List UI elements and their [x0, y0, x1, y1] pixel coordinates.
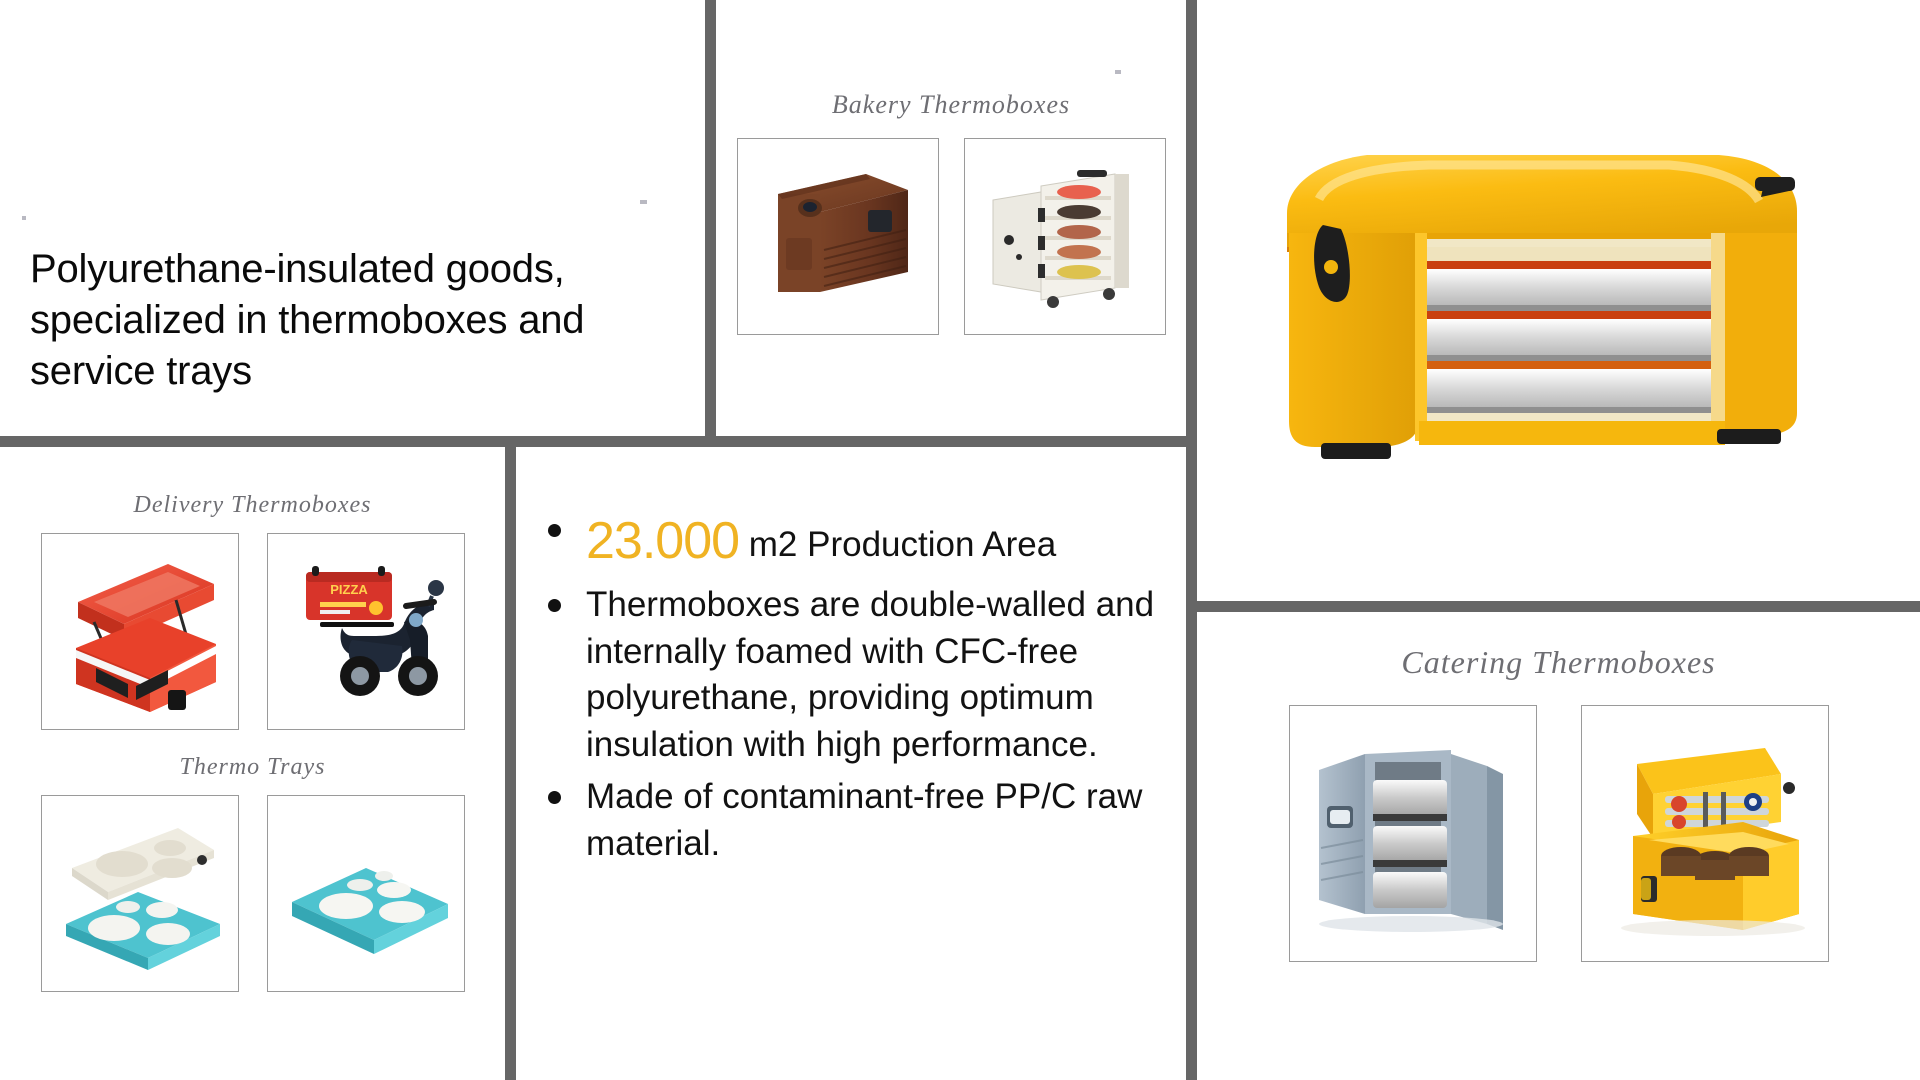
thumb-yellow-catering-thermobox-open[interactable]: [1581, 705, 1829, 962]
page-title: Polyurethane-insulated goods, specialize…: [30, 244, 670, 398]
production-area-label: m2 Production Area: [739, 525, 1056, 564]
divider-horizontal-catering: [1197, 601, 1920, 612]
thumb-red-delivery-thermobox-open[interactable]: [41, 533, 239, 730]
thumb-white-bakery-cabinet-thermobox[interactable]: [964, 138, 1166, 335]
hero-product-image: [1197, 0, 1920, 601]
divider-horizontal-title: [0, 436, 716, 447]
divider-vertical-middle: [505, 436, 516, 1080]
bullet-double-walled: Thermoboxes are double-walled and intern…: [534, 582, 1186, 768]
bullet-dot-icon: [548, 524, 561, 537]
svg-text:PIZZA: PIZZA: [330, 582, 368, 597]
bullet-production-area: 23.000 m2 Production Area: [534, 507, 1186, 576]
group-bakery-thermoboxes: Bakery Thermoboxes: [716, 0, 1186, 436]
bullets-panel: 23.000 m2 Production Area Thermoboxes ar…: [516, 447, 1186, 1080]
thumb-thermo-tray-cream-and-teal[interactable]: [41, 795, 239, 992]
group-label-bakery: Bakery Thermoboxes: [716, 90, 1186, 120]
divider-vertical-bakery-left: [705, 0, 716, 444]
group-catering-thermoboxes: Catering Thermoboxes: [1197, 612, 1920, 1080]
bullet-dot-icon: [548, 599, 561, 612]
bullet-text: Made of contaminant-free PP/C raw materi…: [586, 777, 1142, 863]
thumb-grey-catering-thermobox[interactable]: [1289, 705, 1537, 962]
thumb-row-trays: [0, 795, 505, 992]
feature-bullet-list: 23.000 m2 Production Area Thermoboxes ar…: [516, 447, 1186, 867]
production-area-value: 23.000: [586, 512, 739, 570]
thumb-row-catering: [1197, 705, 1920, 962]
thumb-row-delivery: PIZZA: [0, 533, 505, 730]
left-product-column: Delivery Thermoboxes: [0, 447, 505, 1080]
title-panel: Polyurethane-insulated goods, specialize…: [0, 0, 705, 436]
divider-vertical-bullets-right: [1186, 436, 1197, 1080]
bullet-raw-material: Made of contaminant-free PP/C raw materi…: [534, 774, 1186, 867]
divider-horizontal-bakery: [705, 436, 1197, 447]
group-label-trays: Thermo Trays: [0, 754, 505, 781]
group-label-delivery: Delivery Thermoboxes: [0, 492, 505, 519]
slide-canvas: Polyurethane-insulated goods, specialize…: [0, 0, 1920, 1080]
thumb-thermo-tray-teal[interactable]: [267, 795, 465, 992]
thumb-pizza-scooter-delivery-box[interactable]: PIZZA: [267, 533, 465, 730]
thumb-brown-bakery-thermobox[interactable]: [737, 138, 939, 335]
thumb-row-bakery: [716, 138, 1186, 335]
group-label-catering: Catering Thermoboxes: [1197, 644, 1920, 681]
bullet-dot-icon: [548, 791, 561, 804]
bullet-text: Thermoboxes are double-walled and intern…: [586, 585, 1154, 764]
divider-vertical-bakery-right: [1186, 0, 1197, 444]
